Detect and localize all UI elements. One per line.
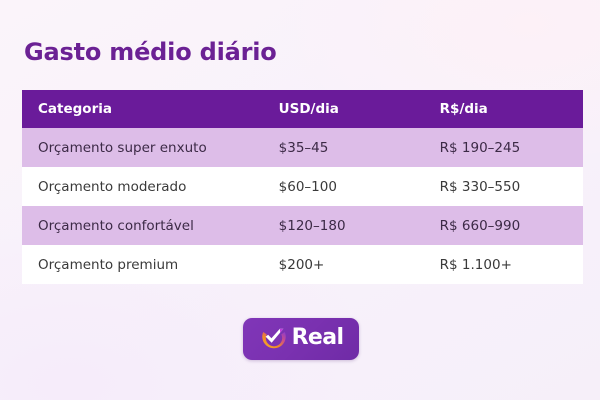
table-row: Orçamento confortável $120–180 R$ 660–99…	[22, 206, 583, 245]
table-row: Orçamento premium $200+ R$ 1.100+	[22, 245, 583, 284]
table-row: Orçamento moderado $60–100 R$ 330–550	[22, 167, 583, 206]
cell-usd-dia: $60–100	[263, 167, 424, 206]
cell-categoria: Orçamento moderado	[22, 167, 263, 206]
table-row: Orçamento super enxuto $35–45 R$ 190–245	[22, 128, 583, 167]
table-header: Categoria USD/dia R$/dia	[22, 90, 583, 128]
column-header-categoria: Categoria	[22, 90, 263, 128]
cell-categoria: Orçamento super enxuto	[22, 128, 263, 167]
cell-categoria: Orçamento premium	[22, 245, 263, 284]
pricing-table-container: Categoria USD/dia R$/dia Orçamento super…	[22, 90, 583, 284]
cell-categoria: Orçamento confortável	[22, 206, 263, 245]
logo-wordmark: Real	[292, 327, 344, 349]
check-in-bowl-icon	[259, 324, 289, 354]
pricing-table: Categoria USD/dia R$/dia Orçamento super…	[22, 90, 583, 284]
column-header-usd-dia: USD/dia	[263, 90, 424, 128]
cell-usd-dia: $120–180	[263, 206, 424, 245]
real-logo-badge: Real	[243, 318, 359, 360]
table-header-row: Categoria USD/dia R$/dia	[22, 90, 583, 128]
cell-brl-dia: R$ 190–245	[424, 128, 583, 167]
column-header-brl-dia: R$/dia	[424, 90, 583, 128]
page-title: Gasto médio diário	[24, 38, 277, 66]
cell-brl-dia: R$ 660–990	[424, 206, 583, 245]
cell-usd-dia: $200+	[263, 245, 424, 284]
cell-usd-dia: $35–45	[263, 128, 424, 167]
infographic-canvas: Gasto médio diário Categoria USD/dia R$/…	[0, 0, 600, 400]
cell-brl-dia: R$ 330–550	[424, 167, 583, 206]
table-body: Orçamento super enxuto $35–45 R$ 190–245…	[22, 128, 583, 284]
cell-brl-dia: R$ 1.100+	[424, 245, 583, 284]
